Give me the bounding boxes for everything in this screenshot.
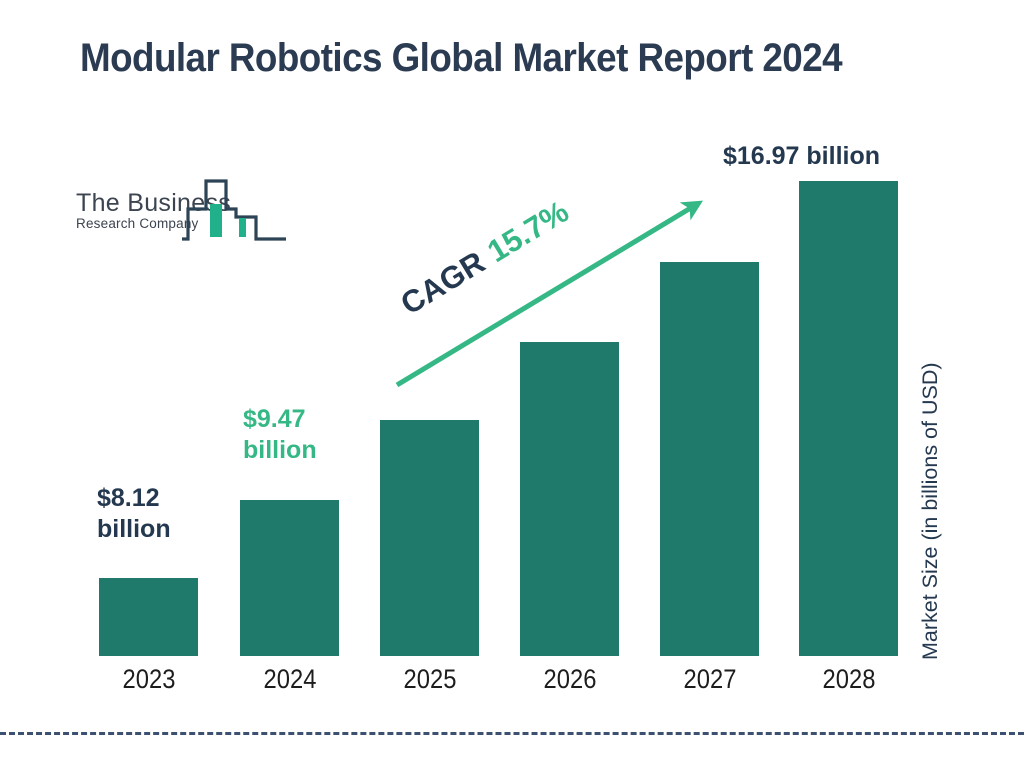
- xtick-2023: 2023: [96, 664, 202, 695]
- xtick-2024: 2024: [237, 664, 343, 695]
- y-axis-title: Market Size (in billions of USD): [918, 260, 943, 660]
- chart-page: Modular Robotics Global Market Report 20…: [0, 0, 1024, 768]
- plot-area: $8.12 billion $9.47 billion $16.97 billi…: [0, 0, 1024, 768]
- xtick-2028: 2028: [796, 664, 902, 695]
- growth-arrow-icon: [0, 0, 1024, 768]
- xtick-2026: 2026: [517, 664, 623, 695]
- footer-divider: [0, 732, 1024, 735]
- xtick-2027: 2027: [657, 664, 763, 695]
- xtick-2025: 2025: [377, 664, 483, 695]
